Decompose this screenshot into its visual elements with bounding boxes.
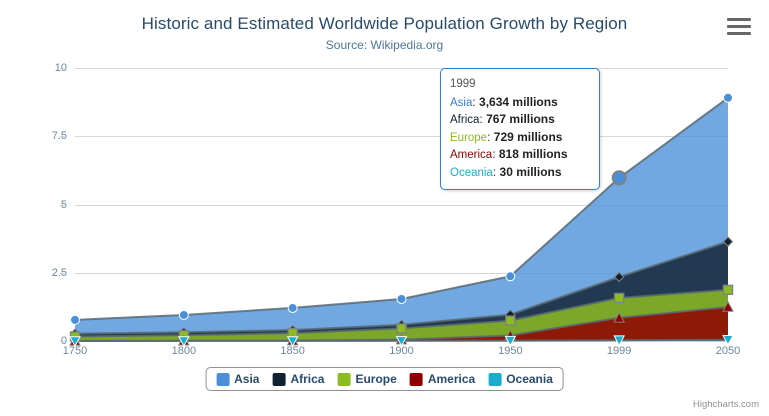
legend-item-label: Europe	[355, 372, 396, 386]
tooltip-row: Africa: 767 millions	[450, 111, 590, 129]
tooltip-separator: :	[493, 165, 500, 179]
legend-item-label: Africa	[290, 372, 324, 386]
hamburger-menu-icon[interactable]	[727, 18, 751, 36]
y-axis-tick-mark	[60, 68, 67, 69]
x-axis-tick-label: 1900	[389, 345, 413, 357]
tooltip-series-value: 30 millions	[500, 165, 562, 179]
legend-swatch-icon	[272, 373, 285, 386]
legend-item-asia[interactable]: Asia	[216, 372, 259, 386]
y-axis-tick-mark	[60, 273, 67, 274]
data-point-asia[interactable]	[179, 310, 188, 319]
x-axis-tick-label: 1950	[498, 345, 522, 357]
tooltip-series-name: Oceania	[450, 167, 493, 179]
tooltip-row: America: 818 millions	[450, 146, 590, 164]
x-axis-tick-label: 2050	[716, 345, 740, 357]
legend-item-europe[interactable]: Europe	[337, 372, 396, 386]
hamburger-bar	[727, 25, 751, 28]
data-point-asia[interactable]	[397, 294, 406, 303]
tooltip-series-value: 729 millions	[494, 130, 563, 144]
tooltip-series-name: Asia	[450, 97, 472, 109]
credits-link[interactable]: Highcharts.com	[693, 399, 759, 410]
x-axis-labels: 1750180018501900195019992050	[75, 345, 728, 361]
hamburger-bar	[727, 18, 751, 21]
tooltip-series-name: Europe	[450, 132, 487, 144]
legend-item-africa[interactable]: Africa	[272, 372, 324, 386]
data-point-asia[interactable]	[506, 272, 515, 281]
legend-item-america[interactable]: America	[410, 372, 475, 386]
tooltip-separator: :	[492, 147, 499, 161]
tooltip-series-value: 3,634 millions	[479, 95, 558, 109]
legend-item-oceania[interactable]: Oceania	[488, 372, 553, 386]
data-point-europe[interactable]	[397, 324, 406, 333]
legend-item-label: America	[428, 372, 475, 386]
data-point-europe[interactable]	[615, 293, 624, 302]
chart-subtitle: Source: Wikipedia.org	[0, 38, 769, 52]
tooltip-series-value: 818 millions	[499, 147, 568, 161]
y-axis-tick-mark	[60, 341, 67, 342]
x-axis-tick-label: 1800	[172, 345, 196, 357]
y-axis-tick-mark	[60, 136, 67, 137]
data-point-asia[interactable]	[71, 315, 80, 324]
highcharts-container: Historic and Estimated Worldwide Populat…	[0, 0, 769, 416]
plot-area	[75, 68, 728, 341]
data-point-asia[interactable]	[288, 303, 297, 312]
data-point-asia[interactable]	[724, 93, 733, 102]
y-axis-tick-mark	[60, 205, 67, 206]
tooltip-separator: :	[487, 130, 494, 144]
tooltip-row: Oceania: 30 millions	[450, 164, 590, 182]
tooltip-row: Europe: 729 millions	[450, 129, 590, 147]
data-point-europe[interactable]	[506, 316, 515, 325]
tooltip-header: 1999	[450, 76, 590, 93]
tooltip-series-name: America	[450, 149, 492, 161]
legend: AsiaAfricaEuropeAmericaOceania	[205, 367, 564, 391]
x-axis-tick-label: 1750	[63, 345, 87, 357]
legend-item-label: Asia	[234, 372, 259, 386]
tooltip-series-value: 767 millions	[486, 112, 555, 126]
legend-swatch-icon	[488, 373, 501, 386]
legend-item-label: Oceania	[506, 372, 553, 386]
hamburger-bar	[727, 32, 751, 35]
y-axis-labels: 107.552.50	[0, 68, 67, 341]
legend-swatch-icon	[216, 373, 229, 386]
series-group	[75, 68, 728, 341]
tooltip: 1999 Asia: 3,634 millionsAfrica: 767 mil…	[440, 68, 600, 190]
data-point-europe[interactable]	[724, 285, 733, 294]
chart-title: Historic and Estimated Worldwide Populat…	[0, 14, 769, 34]
data-point-asia[interactable]	[613, 171, 626, 184]
legend-swatch-icon	[337, 373, 350, 386]
x-axis-tick-label: 1999	[607, 345, 631, 357]
tooltip-series-name: Africa	[450, 114, 479, 126]
tooltip-row: Asia: 3,634 millions	[450, 94, 590, 112]
x-axis-tick-label: 1850	[280, 345, 304, 357]
legend-swatch-icon	[410, 373, 423, 386]
